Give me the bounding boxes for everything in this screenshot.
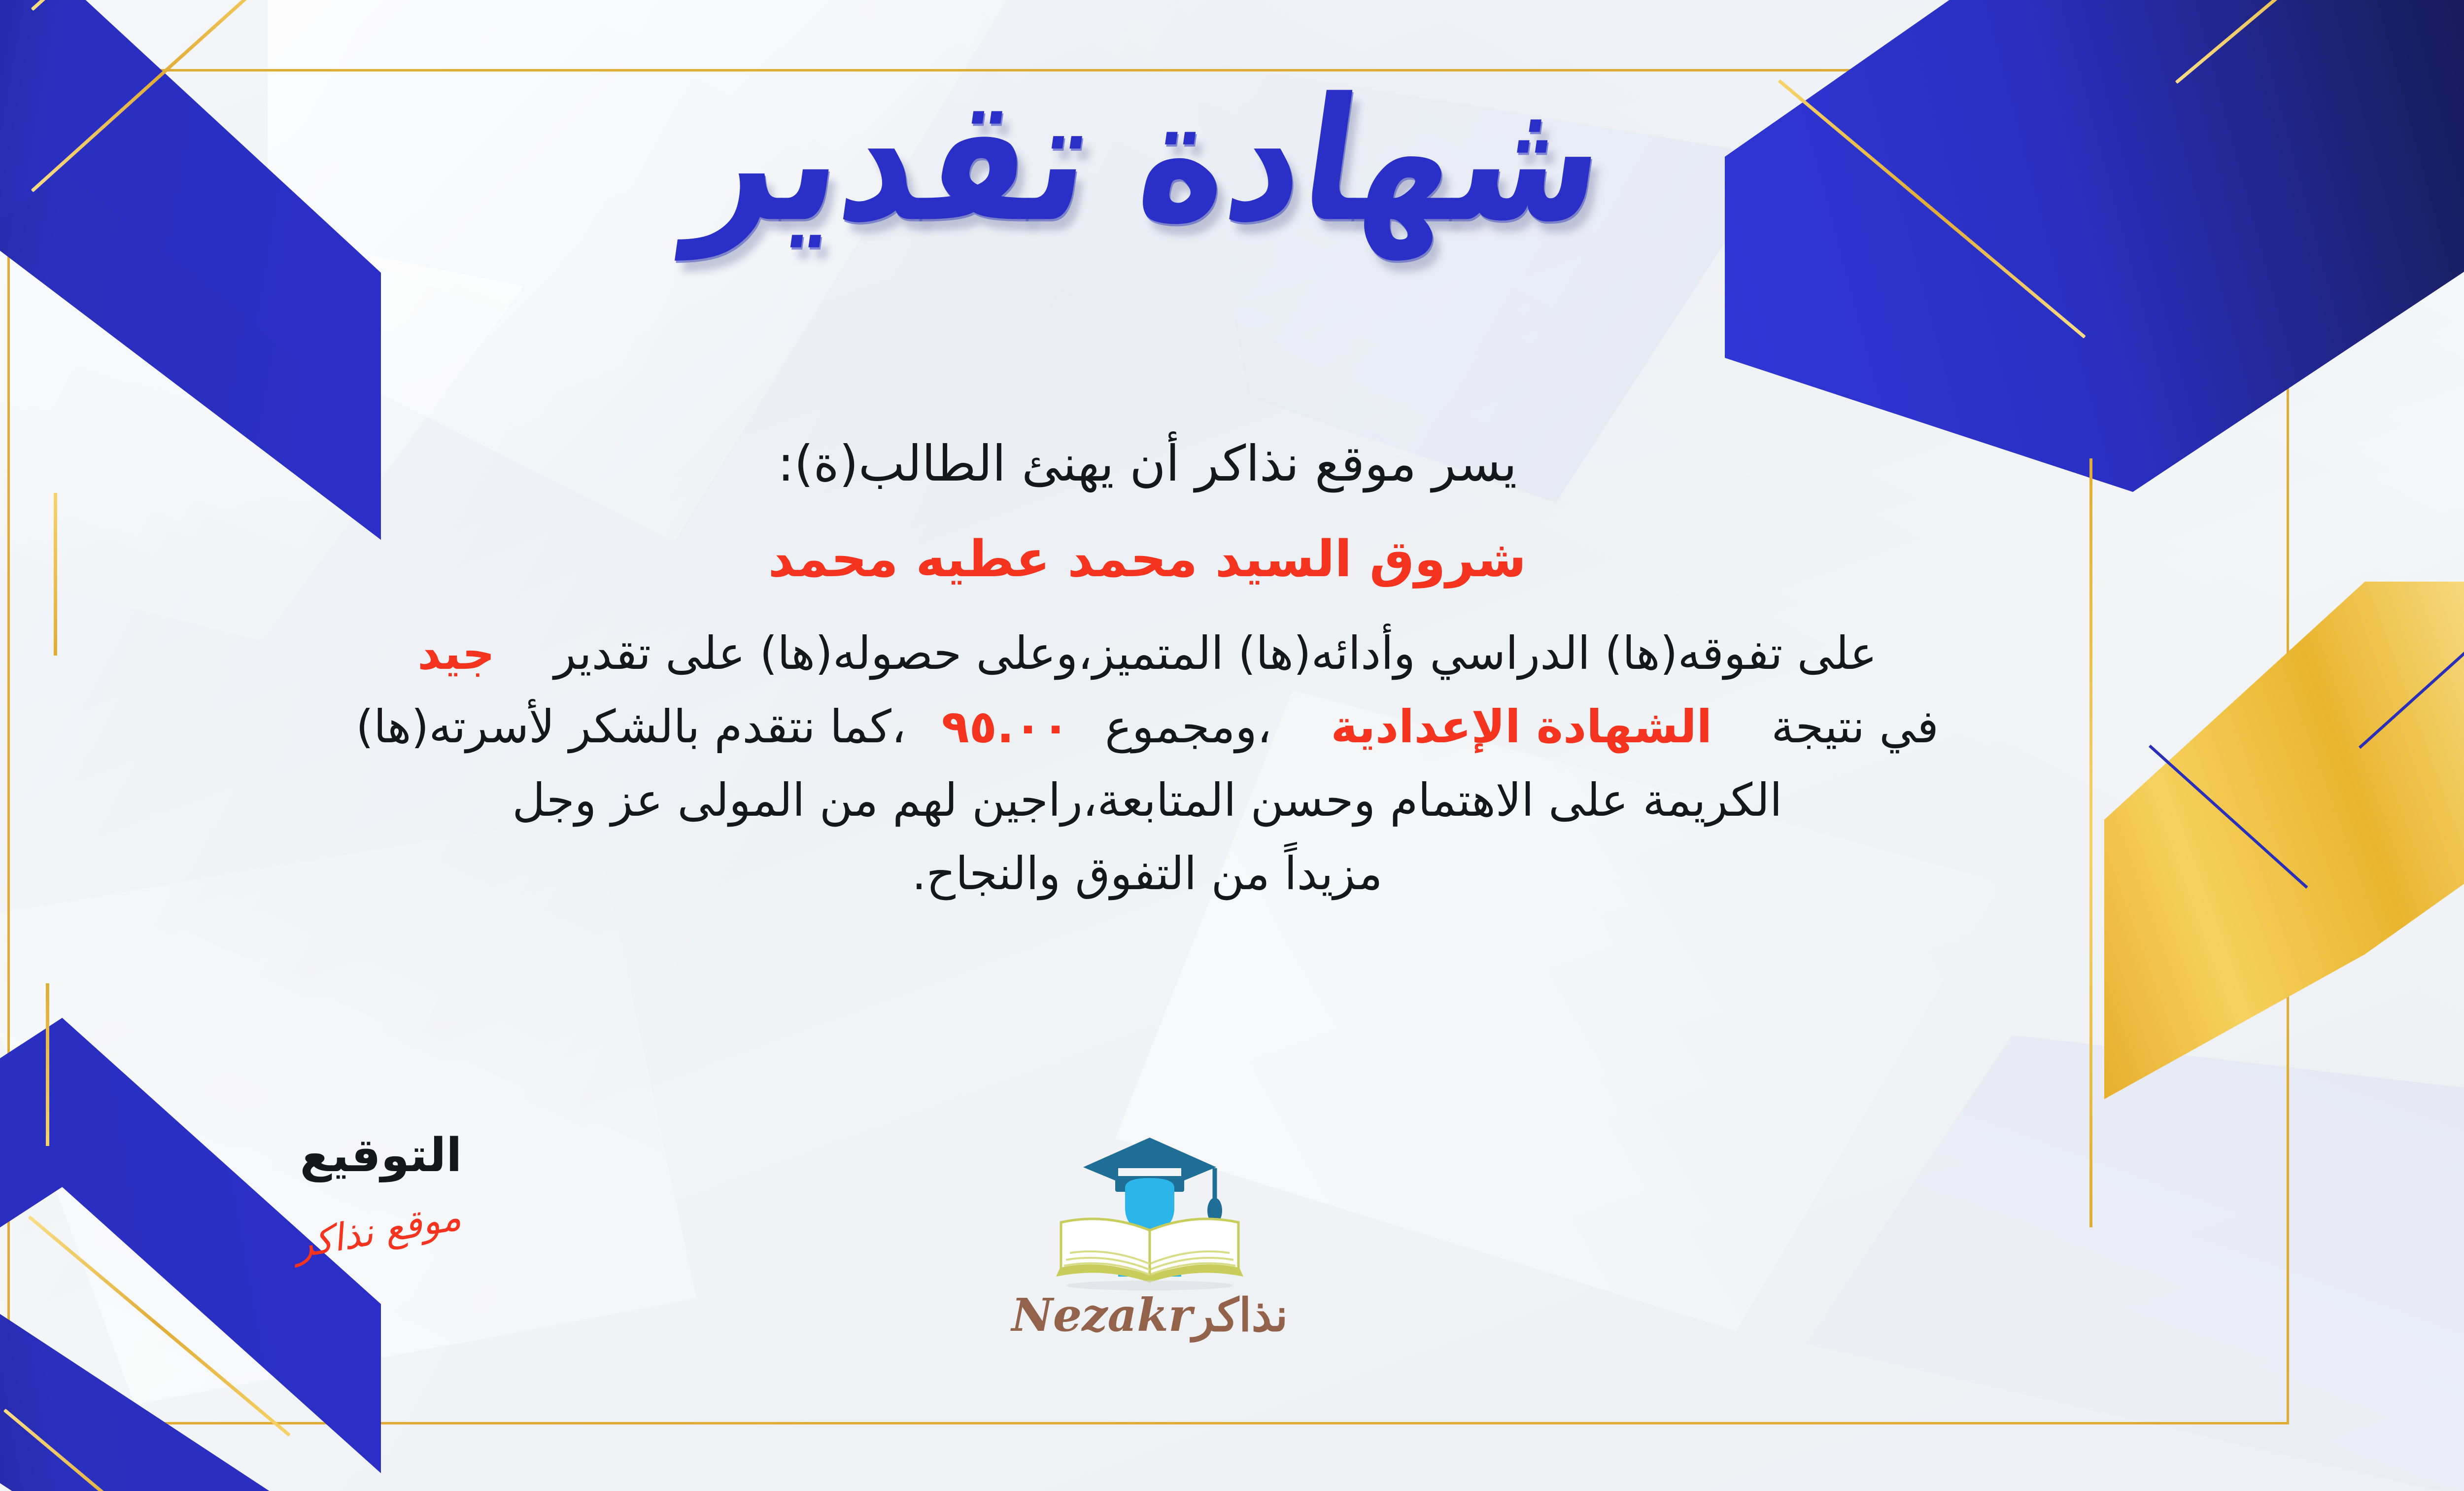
gold-accent-line — [31, 0, 290, 11]
gold-accent-line — [46, 983, 49, 1146]
total-label: ،ومجموع — [1105, 700, 1271, 753]
gold-accent-line — [3, 1409, 247, 1491]
background-facet — [1805, 1035, 2464, 1491]
achievement-line: على تفوقه(ها) الدراسي وأدائه(ها) المتميز… — [21, 617, 2273, 690]
blue-accent-line — [2359, 529, 2464, 749]
exam-prefix: في نتيجة — [1771, 700, 1939, 753]
exam-result-line: في نتيجةالشهادة الإعدادية،ومجموع٩٥.٠٠،كم… — [21, 690, 2273, 763]
brand-name-ar: نذاكر — [1192, 1288, 1288, 1342]
exam-name: الشهادة الإعدادية — [1331, 700, 1712, 753]
achievement-text: على تفوقه(ها) الدراسي وأدائه(ها) المتميز… — [554, 627, 1877, 680]
gold-accent-line — [2175, 0, 2464, 84]
student-name: شروق السيد محمد عطيه محمد — [21, 519, 2273, 600]
certificate-page: شهادة تقدير يسر موقع نذاكر أن يهنئ الطال… — [0, 0, 2464, 1491]
total-score: ٩٥.٠٠ — [942, 700, 1070, 753]
thanks-text: ،كما نتقدم بالشكر لأسرته(ها) — [356, 700, 906, 753]
brand-name: نذاكرNezakr — [958, 1288, 1342, 1342]
signature-area: التوقيع موقع نذاكر — [208, 1129, 553, 1252]
graduate-on-open-book-icon — [1027, 1129, 1273, 1291]
closing-line: مزيداً من التفوق والنجاح. — [21, 837, 2273, 910]
brand-name-en: Nezakr — [1012, 1288, 1193, 1342]
certificate-title: شهادة تقدير — [683, 71, 1615, 249]
signature-mark: موقع نذاكر — [297, 1193, 465, 1267]
grade-value: جيد — [417, 627, 495, 680]
certificate-body: يسر موقع نذاكر أن يهنئ الطالب(ة): شروق ا… — [21, 424, 2273, 910]
family-thanks-line: الكريمة على الاهتمام وحسن المتابعة،راجين… — [21, 763, 2273, 837]
signature-label: التوقيع — [208, 1129, 553, 1182]
intro-line: يسر موقع نذاكر أن يهنئ الطالب(ة): — [21, 424, 2273, 504]
brand-logo: نذاكرNezakr — [958, 1129, 1342, 1342]
certificate-title-area: شهادة تقدير — [0, 83, 2464, 238]
